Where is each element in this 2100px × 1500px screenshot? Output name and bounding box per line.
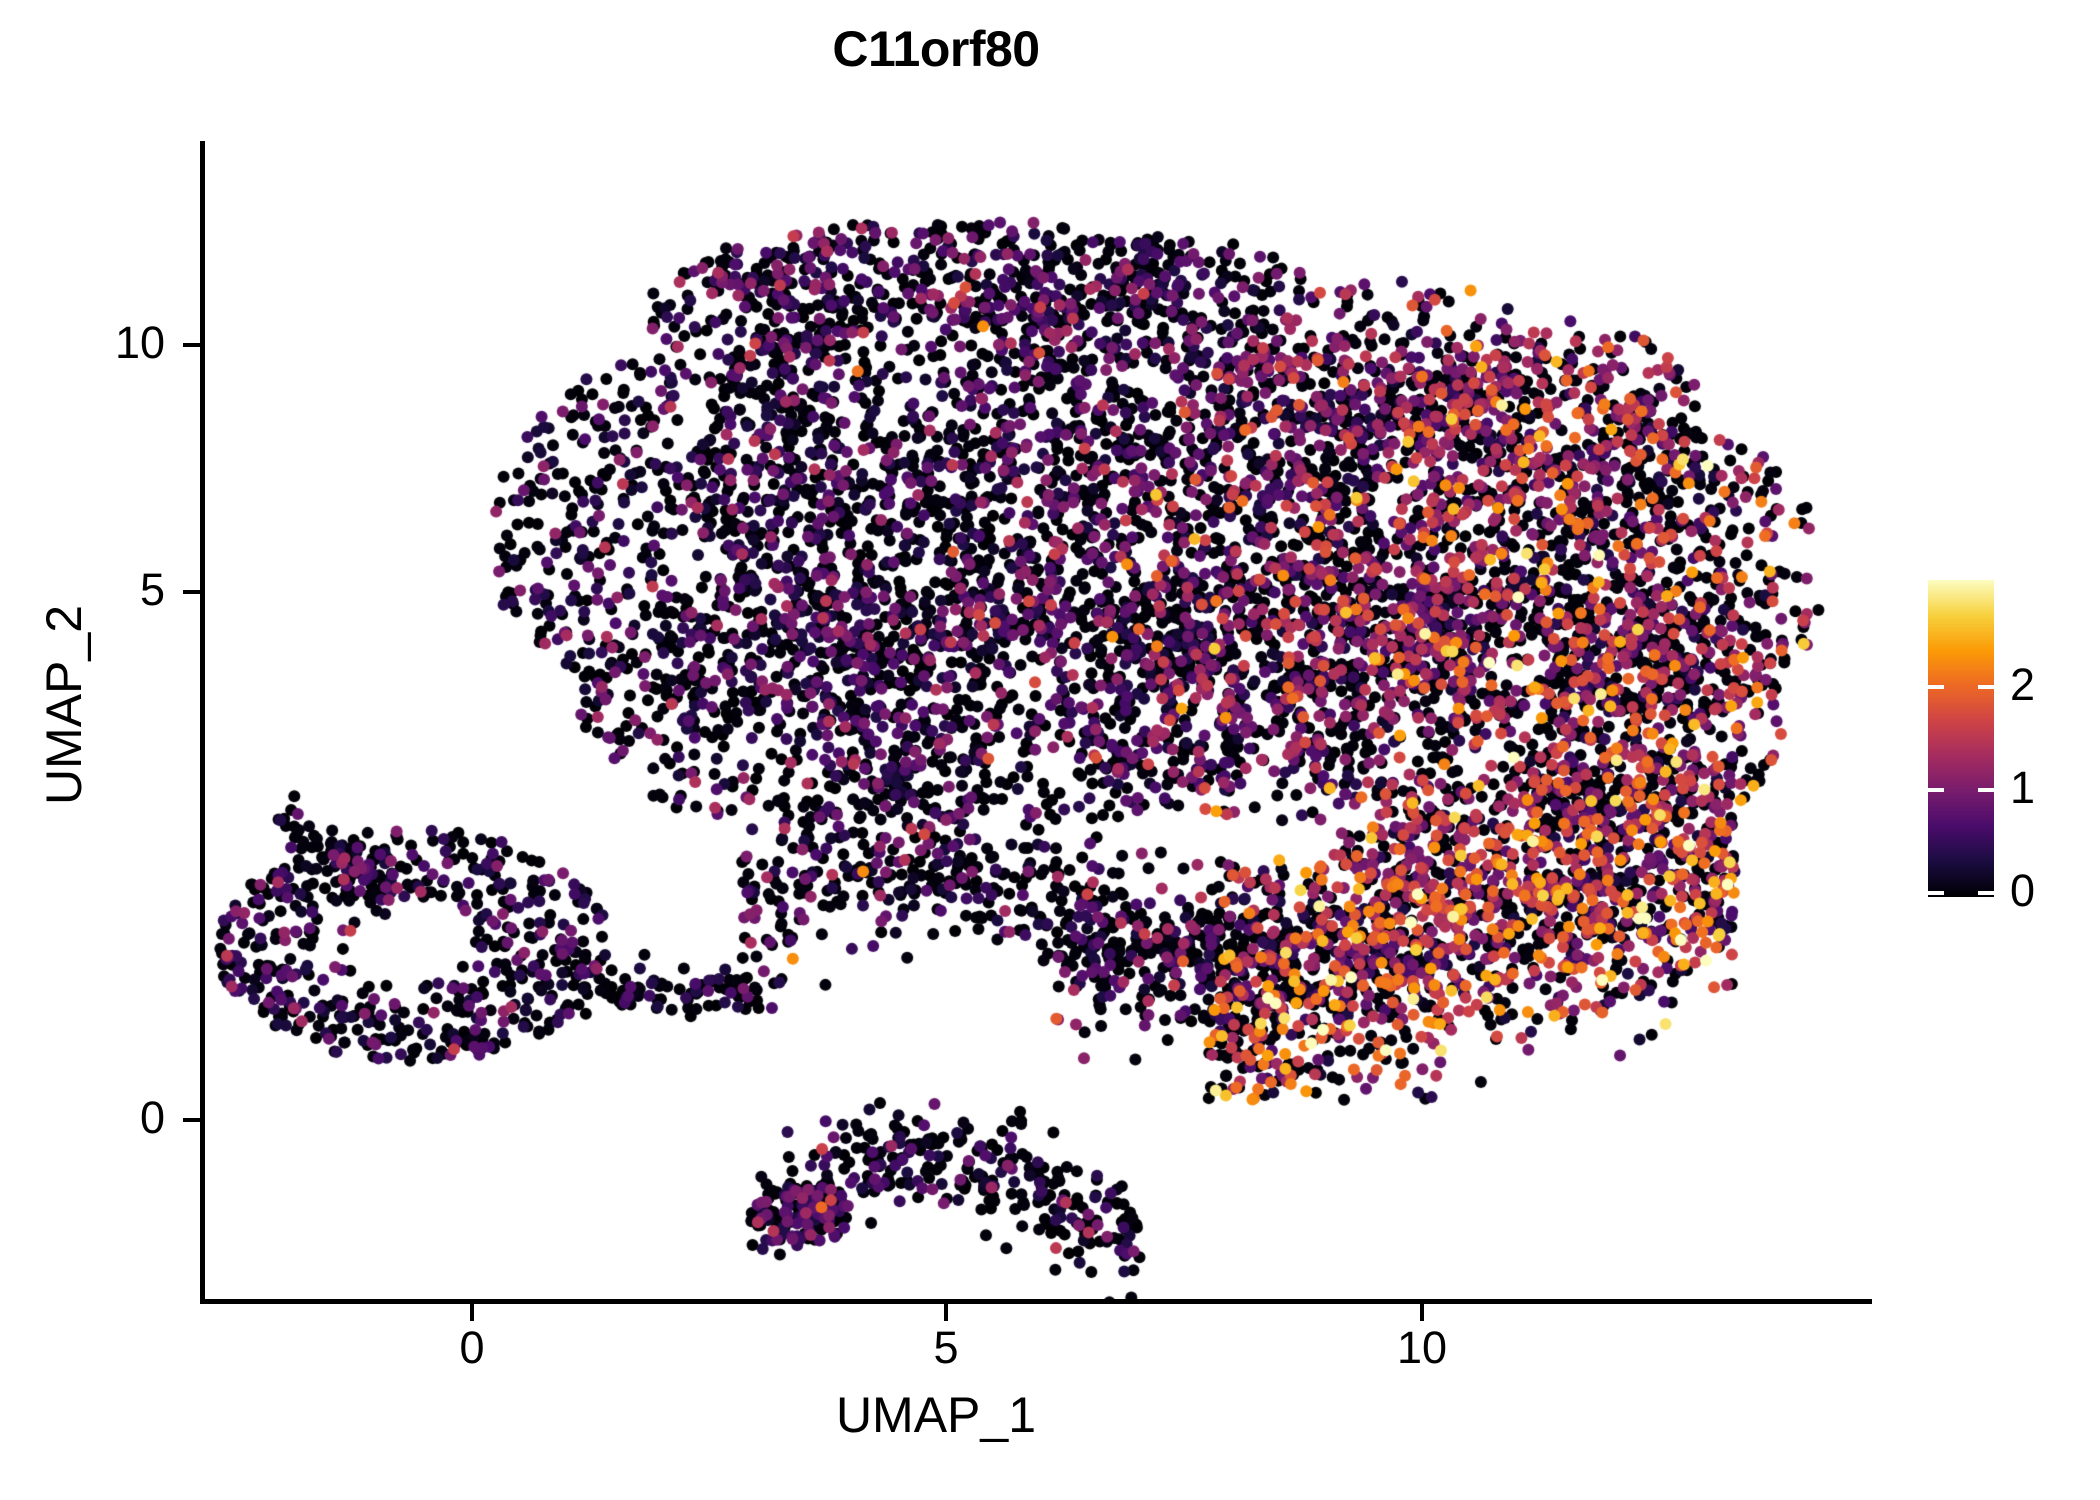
y-tick-label-10: 10 (115, 320, 165, 365)
x-axis-title: UMAP_1 (0, 1390, 1872, 1440)
y-tick-mark-5 (183, 590, 200, 594)
colorbar-tick-1 (1928, 788, 1994, 792)
y-axis-line (200, 141, 205, 1303)
y-tick-label-5: 5 (140, 567, 165, 612)
x-tick-label-5: 5 (886, 1325, 1006, 1370)
plot-panel (204, 141, 1872, 1300)
x-tick-label-10: 10 (1362, 1325, 1482, 1370)
y-tick-label-0: 0 (140, 1095, 165, 1140)
colorbar-label-1: 1 (2010, 765, 2035, 810)
feature-plot-figure: C11orf80 10 5 0 0 5 10 UMAP_1 UMAP_2 2 1… (0, 0, 2100, 1500)
x-tick-label-0: 0 (412, 1325, 532, 1370)
y-tick-mark-10 (183, 343, 200, 347)
colorbar-tick-0 (1928, 891, 1994, 895)
colorbar-label-2: 2 (2010, 662, 2035, 707)
scatter-plot-canvas (204, 141, 1872, 1300)
y-tick-mark-0 (183, 1118, 200, 1122)
colorbar-gradient (1928, 580, 1994, 897)
colorbar-tick-2 (1928, 685, 1994, 689)
y-axis-title: UMAP_2 (39, 405, 89, 1005)
x-tick-mark-0 (470, 1304, 474, 1321)
colorbar-legend: 2 1 0 (1928, 580, 2088, 900)
colorbar-label-0: 0 (2010, 868, 2035, 913)
x-tick-mark-5 (944, 1304, 948, 1321)
page-title: C11orf80 (0, 24, 1872, 74)
x-tick-mark-10 (1420, 1304, 1424, 1321)
x-axis-line (200, 1299, 1872, 1304)
